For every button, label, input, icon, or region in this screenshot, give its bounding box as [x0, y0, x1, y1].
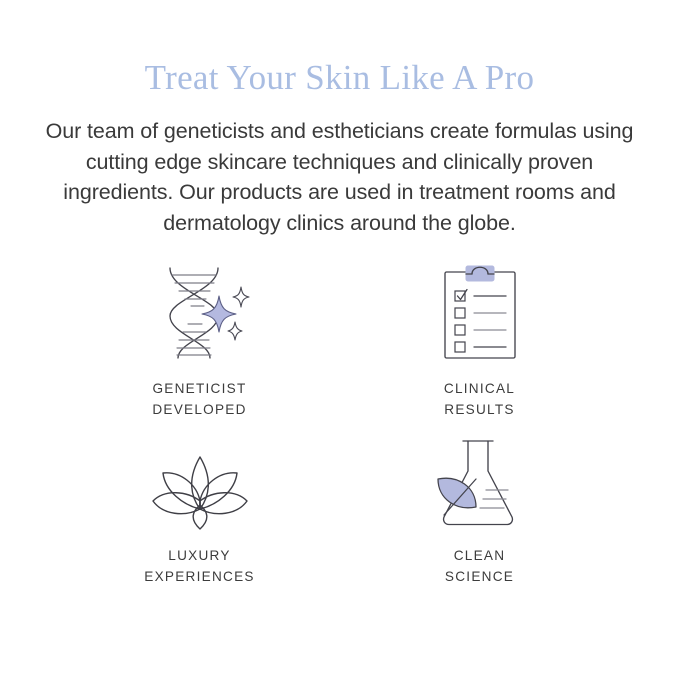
feature-luxury-experiences: LUXURY EXPERIENCES [60, 435, 340, 610]
feature-label-luxury-experiences: LUXURY EXPERIENCES [144, 545, 254, 587]
feature-label-clinical-results: CLINICAL RESULTS [444, 378, 515, 420]
intro-paragraph: Our team of geneticists and estheticians… [40, 116, 640, 238]
page-title: Treat Your Skin Like A Pro [145, 58, 535, 98]
feature-geneticist-developed: GENETICIST DEVELOPED [60, 260, 340, 435]
feature-clinical-results: CLINICAL RESULTS [340, 260, 620, 435]
feature-label-geneticist-developed: GENETICIST DEVELOPED [152, 378, 246, 420]
feature-label-clean-science: CLEAN SCIENCE [445, 545, 514, 587]
feature-grid: GENETICIST DEVELOPED [60, 260, 620, 610]
feature-clean-science: CLEAN SCIENCE [340, 435, 620, 610]
erlenmeyer-flask-leaf-icon [428, 435, 532, 531]
lotus-flower-icon [145, 435, 255, 531]
clipboard-checklist-icon [428, 260, 532, 364]
marketing-panel: Treat Your Skin Like A Pro Our team of g… [0, 0, 679, 679]
dna-helix-sparkle-icon [148, 260, 252, 364]
